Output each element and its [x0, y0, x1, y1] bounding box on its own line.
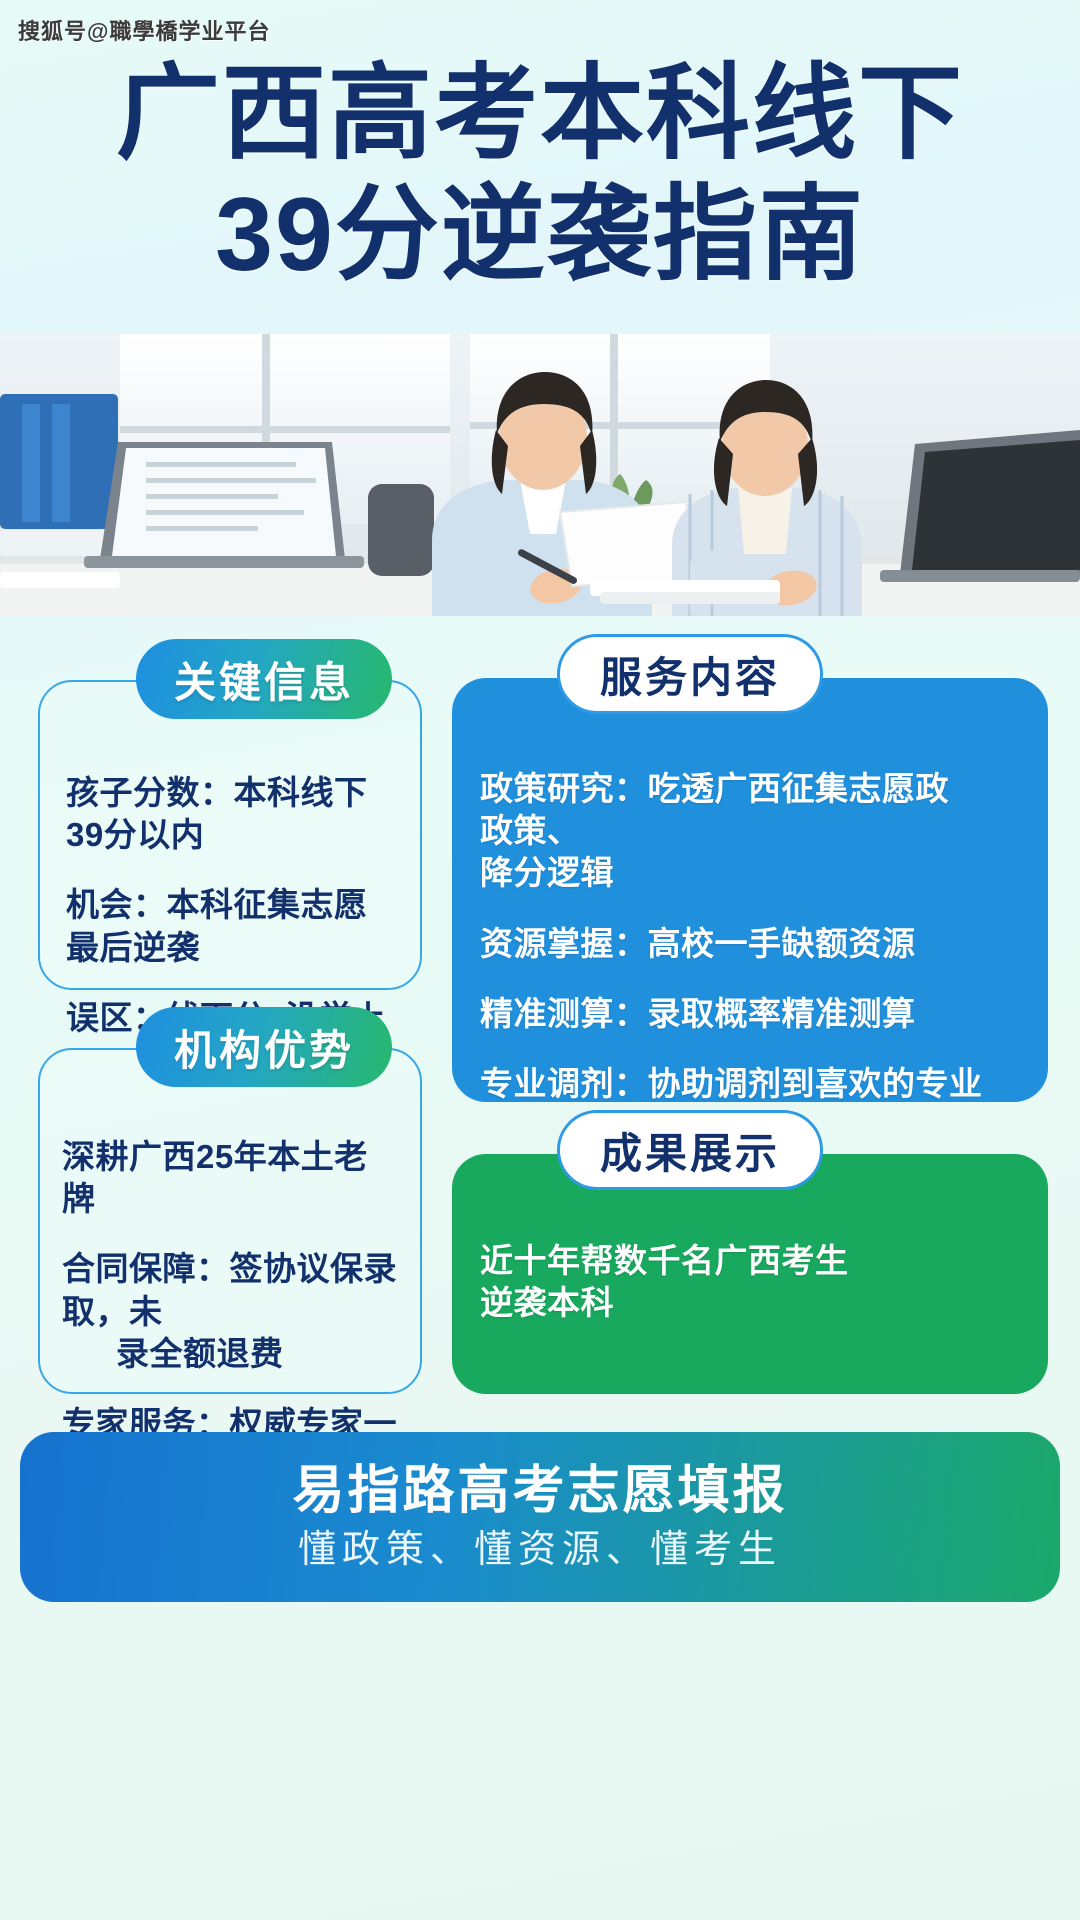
- badge-achievements: 成果展示: [557, 1110, 823, 1190]
- card-service-content-row: 政策研究：吃透广西征集志愿政 政策、 降分逻辑: [480, 768, 1020, 895]
- card-key-info-row: 机会：本科征集志愿最后逆袭: [66, 884, 394, 968]
- card-service-content-row-line: 政策、: [480, 810, 1020, 852]
- poster-root: 搜狐号@職學橋学业平台 广西高考本科线下 39分逆袭指南: [0, 0, 1080, 1920]
- card-key-info-row: 孩子分数：本科线下39分以内: [66, 772, 394, 856]
- card-achievements-row-line: 逆袭本科: [480, 1282, 1020, 1324]
- card-service-content: 政策研究：吃透广西征集志愿政 政策、 降分逻辑 资源掌握：高校一手缺额资源 精准…: [452, 678, 1048, 1102]
- hero-photo: [0, 334, 1080, 616]
- card-org-advantage: 深耕广西25年本土老牌 合同保障：签协议保录取，未 录全额退费 专家服务：权威专…: [38, 1048, 422, 1394]
- card-service-content-row: 精准测算：录取概率精准测算: [480, 993, 1020, 1035]
- badge-service-content: 服务内容: [557, 634, 823, 714]
- card-service-content-row: 资源掌握：高校一手缺额资源: [480, 923, 1020, 965]
- hero-illustration: [0, 334, 1080, 616]
- cards-container: 孩子分数：本科线下39分以内 机会：本科征集志愿最后逆袭 误区：线下分≠没学上 …: [0, 616, 1080, 1406]
- card-achievements-row: 近十年帮数千名广西考生 逆袭本科: [480, 1240, 1020, 1324]
- watermark-label: 搜狐号@職學橋学业平台: [18, 14, 270, 46]
- card-org-advantage-row-line: 录全额退费: [62, 1333, 398, 1375]
- card-service-content-row-line: 精准测算：录取概率精准测算: [480, 993, 1020, 1035]
- card-key-info-row-line: 机会：本科征集志愿最后逆袭: [66, 884, 394, 968]
- footer-subtitle: 懂政策、懂资源、懂考生: [298, 1530, 782, 1572]
- headline-line-1: 广西高考本科线下: [0, 54, 1080, 175]
- card-service-content-row-line: 资源掌握：高校一手缺额资源: [480, 923, 1020, 965]
- card-service-content-row-line: 降分逻辑: [480, 852, 1020, 894]
- card-achievements-row-line: 近十年帮数千名广西考生: [480, 1240, 1020, 1282]
- badge-key-info: 关键信息: [136, 639, 392, 719]
- card-service-content-row-line: 专业调剂：协助调剂到喜欢的专业: [480, 1063, 1020, 1105]
- badge-org-advantage: 机构优势: [136, 1007, 392, 1087]
- card-org-advantage-row: 深耕广西25年本土老牌: [62, 1136, 398, 1220]
- card-key-info: 孩子分数：本科线下39分以内 机会：本科征集志愿最后逆袭 误区：线下分≠没学上: [38, 680, 422, 990]
- card-org-advantage-row-line: 合同保障：签协议保录取，未: [62, 1248, 398, 1332]
- card-key-info-body: 孩子分数：本科线下39分以内 机会：本科征集志愿最后逆袭 误区：线下分≠没学上: [40, 772, 420, 1039]
- card-key-info-row-line: 孩子分数：本科线下39分以内: [66, 772, 394, 856]
- card-achievements: 近十年帮数千名广西考生 逆袭本科: [452, 1154, 1048, 1394]
- footer-title: 易指路高考志愿填报: [292, 1463, 787, 1520]
- headline-line-2: 39分逆袭指南: [0, 175, 1080, 296]
- page-title: 广西高考本科线下 39分逆袭指南: [0, 54, 1080, 295]
- card-achievements-body: 近十年帮数千名广西考生 逆袭本科: [452, 1240, 1048, 1324]
- card-service-content-row-line: 政策研究：吃透广西征集志愿政: [480, 768, 1020, 810]
- card-service-content-body: 政策研究：吃透广西征集志愿政 政策、 降分逻辑 资源掌握：高校一手缺额资源 精准…: [452, 768, 1048, 1105]
- card-service-content-row: 专业调剂：协助调剂到喜欢的专业: [480, 1063, 1020, 1105]
- card-org-advantage-row-line: 深耕广西25年本土老牌: [62, 1136, 398, 1220]
- footer-banner: 易指路高考志愿填报 懂政策、懂资源、懂考生: [20, 1432, 1060, 1602]
- card-org-advantage-row: 合同保障：签协议保录取，未 录全额退费: [62, 1248, 398, 1375]
